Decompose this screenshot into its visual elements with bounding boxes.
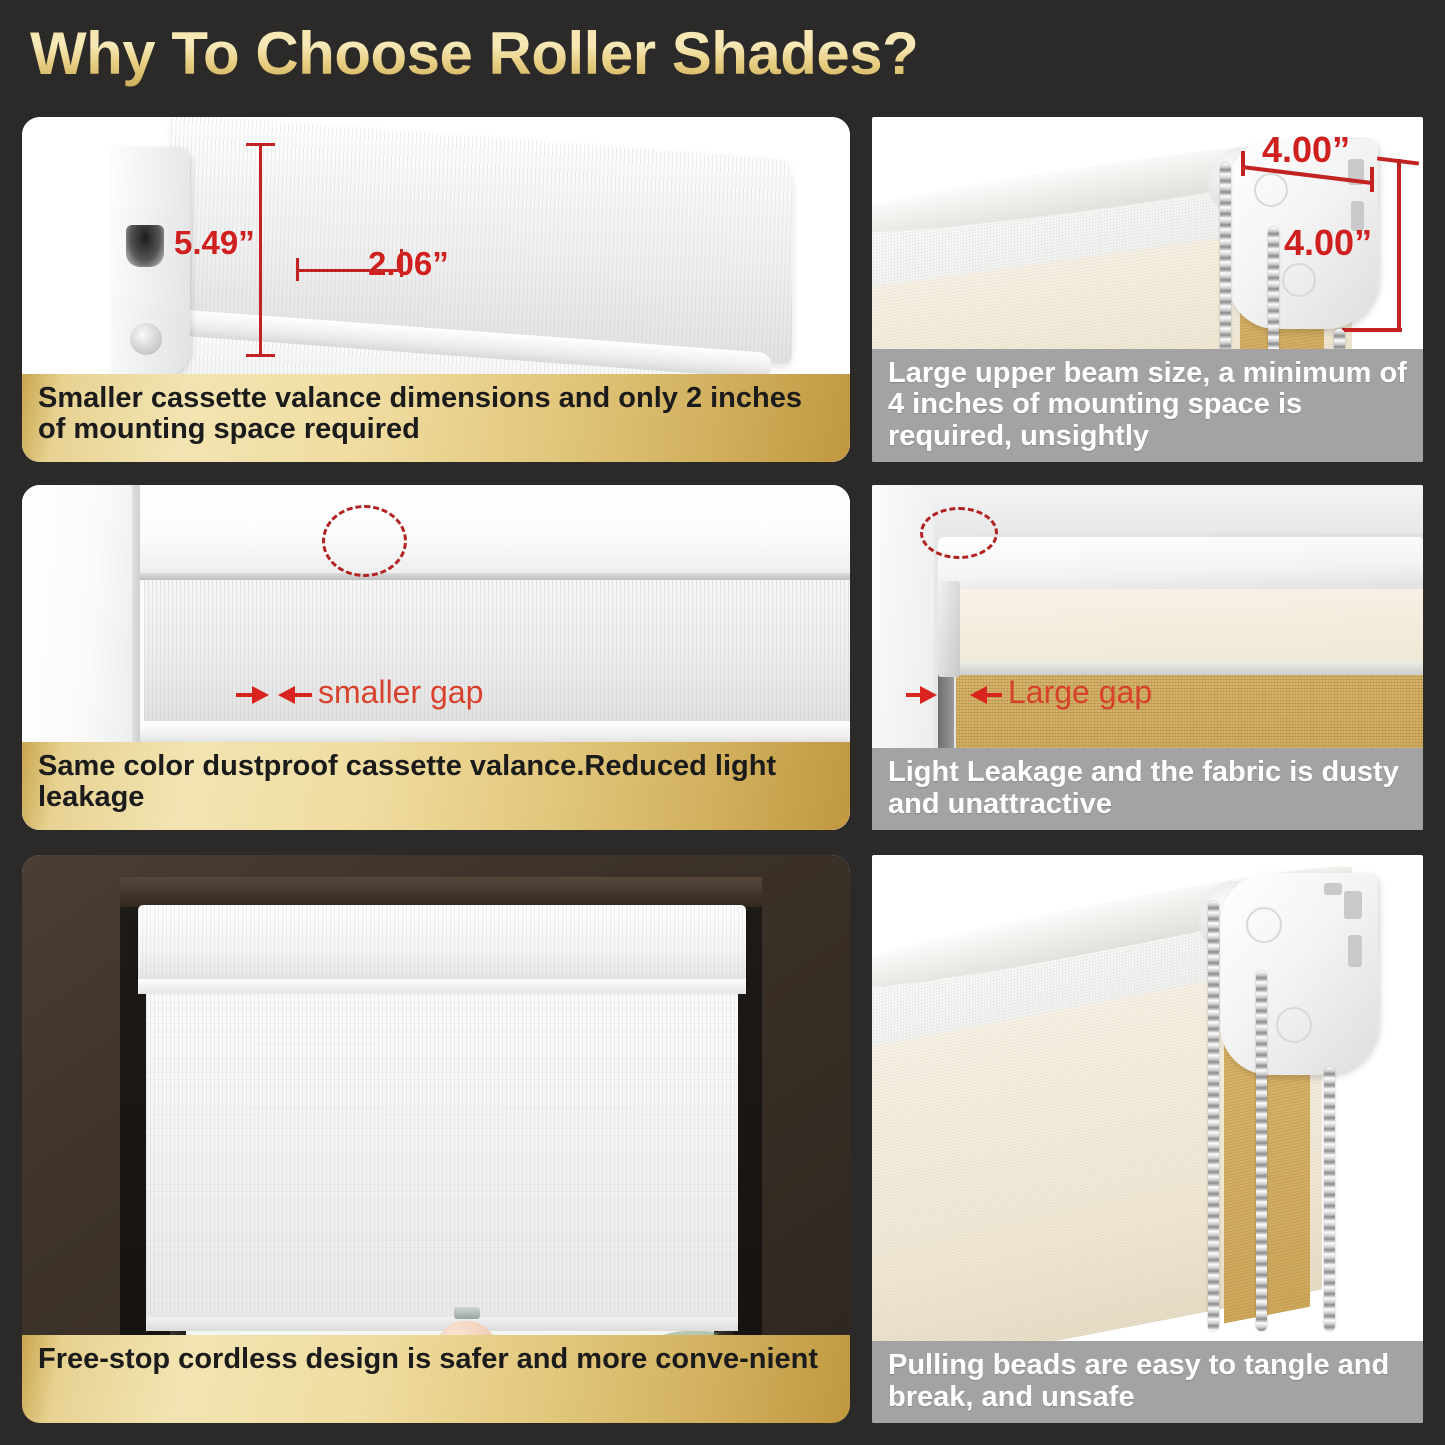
end-cap-screw [130, 323, 162, 355]
panel-smaller-cassette: 5.49” 2.06” Smaller cassette valance dim… [22, 117, 850, 462]
panel-3-caption: Same color dustproof cassette valance.Re… [22, 742, 850, 830]
beam-width-label: 4.00” [1262, 129, 1350, 171]
gap-arrow-left-head-icon [920, 686, 937, 704]
roller-shade-hem-bar [146, 1317, 738, 1331]
gap-arrow-left-head-icon [252, 686, 269, 704]
leak-center-bar [944, 661, 1423, 675]
highlight-ellipse-icon [920, 507, 998, 559]
valance-end-cap [112, 147, 190, 377]
bracket-notch-mid [1348, 935, 1362, 967]
panel-light-leakage: Large gap Light Leakage and the fabric i… [872, 485, 1423, 830]
height-dim-line [259, 143, 262, 357]
cassette-valance [138, 905, 746, 985]
leak-bracket [938, 581, 960, 677]
panel-dustproof-cassette: smaller gap Same color dustproof cassett… [22, 485, 850, 830]
bracket-emboss-lower [1276, 1007, 1312, 1043]
panel-2-caption: Large upper beam size, a minimum of 4 in… [872, 349, 1423, 462]
height-dim-tick-top [246, 143, 275, 146]
beam-height-tick-bottom [1342, 328, 1402, 332]
head-trim-shadow [140, 573, 850, 580]
shade-pull-tab [454, 1307, 480, 1319]
bracket-emboss-upper [1254, 173, 1288, 207]
gap-arrow-right-head-icon [278, 686, 295, 704]
panel-large-upper-beam: 4.00” 4.00” Large upper beam size, a min… [872, 117, 1423, 462]
highlight-ellipse-icon [322, 505, 407, 577]
gap-arrow-right-stem [294, 693, 312, 697]
bead-chain-rear [1324, 1067, 1335, 1331]
width-dim-tick-left [296, 258, 299, 281]
height-dimension-label: 5.49” [174, 224, 255, 262]
height-dim-tick-bottom [246, 354, 275, 357]
gap-arrow-right-head-icon [970, 686, 987, 704]
mounting-bracket [1220, 873, 1378, 1075]
end-cap-slot [126, 225, 164, 267]
gap-arrow-left-stem [906, 693, 920, 697]
bracket-emboss-lower [1282, 263, 1316, 297]
panel-5-caption: Free-stop cordless design is safer and m… [22, 1335, 850, 1423]
bracket-notch-top [1344, 891, 1362, 919]
width-dimension-label: 2.06” [368, 245, 449, 283]
panel-6-caption: Pulling beads are easy to tangle and bre… [872, 1341, 1423, 1423]
panel-4-caption: Light Leakage and the fabric is dusty an… [872, 748, 1423, 830]
beam-width-tick-right [1370, 167, 1374, 192]
panel-6-photo [872, 855, 1423, 1423]
cassette-valance-lip [138, 979, 746, 994]
panel-pulling-beads: Pulling beads are easy to tangle and bre… [872, 855, 1423, 1423]
smaller-gap-label: smaller gap [318, 674, 483, 711]
roller-shade-fabric [146, 993, 738, 1325]
window-head-trim [122, 485, 850, 577]
bead-chain-front [1208, 901, 1219, 1331]
beam-height-label: 4.00” [1284, 222, 1372, 264]
bead-chain-middle [1256, 971, 1267, 1331]
page-title: Why To Choose Roller Shades? [30, 16, 1030, 91]
large-gap-label: Large gap [1008, 674, 1152, 711]
gap-arrow-right-stem [986, 693, 1002, 697]
cassette-fabric-upper [144, 580, 850, 722]
panel-1-caption: Smaller cassette valance dimensions and … [22, 374, 850, 462]
bracket-emboss-upper [1246, 907, 1282, 943]
panel-cordless-design: Free-stop cordless design is safer and m… [22, 855, 850, 1423]
leak-cream-fabric [952, 589, 1423, 667]
leak-roller-tube [938, 537, 1423, 597]
beam-height-dim-line [1397, 159, 1401, 331]
beam-width-tick-left [1241, 151, 1245, 176]
bracket-notch-pin [1324, 883, 1342, 895]
window-lintel [120, 877, 762, 907]
